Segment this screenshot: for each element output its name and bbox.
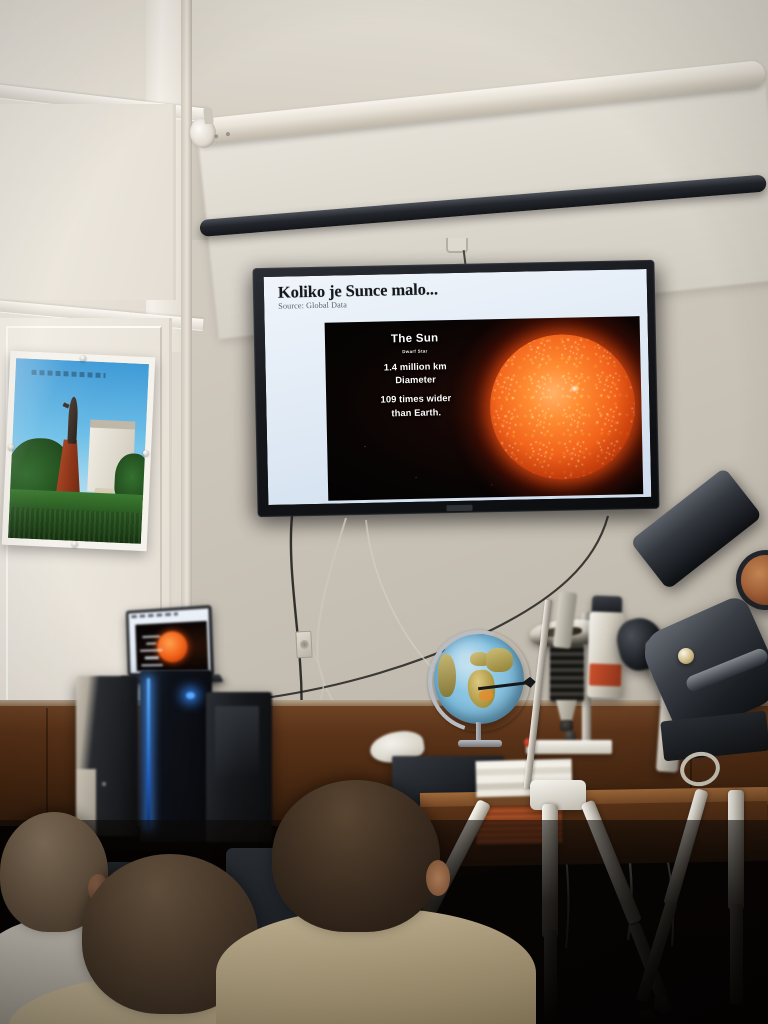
laptop-slide-title	[132, 613, 179, 619]
pc-led-strip	[147, 678, 150, 828]
laptop-slide-text-lines	[139, 635, 164, 672]
laptop-slide-photo	[135, 621, 209, 671]
wall-socket[interactable]	[295, 631, 312, 659]
classroom-scene: Koliko je Sunce malo... Source: Global D…	[0, 0, 768, 1024]
student-right-head	[272, 780, 440, 932]
student-right-ear	[426, 860, 450, 896]
wainscot-seam	[46, 708, 48, 826]
enlarger-bellows	[550, 644, 584, 702]
laptop-screen[interactable]	[129, 608, 211, 673]
student-right	[258, 780, 488, 1024]
laptop-lid	[126, 605, 214, 676]
globe-base	[458, 740, 502, 747]
enlarger-baseboard	[526, 740, 612, 754]
pc-tower-center[interactable]	[140, 670, 212, 842]
telescope-lock-knob[interactable]	[678, 648, 694, 664]
earth-globe[interactable]	[428, 630, 532, 748]
tripod-head-center	[530, 780, 586, 810]
pc-power-led	[186, 692, 195, 699]
